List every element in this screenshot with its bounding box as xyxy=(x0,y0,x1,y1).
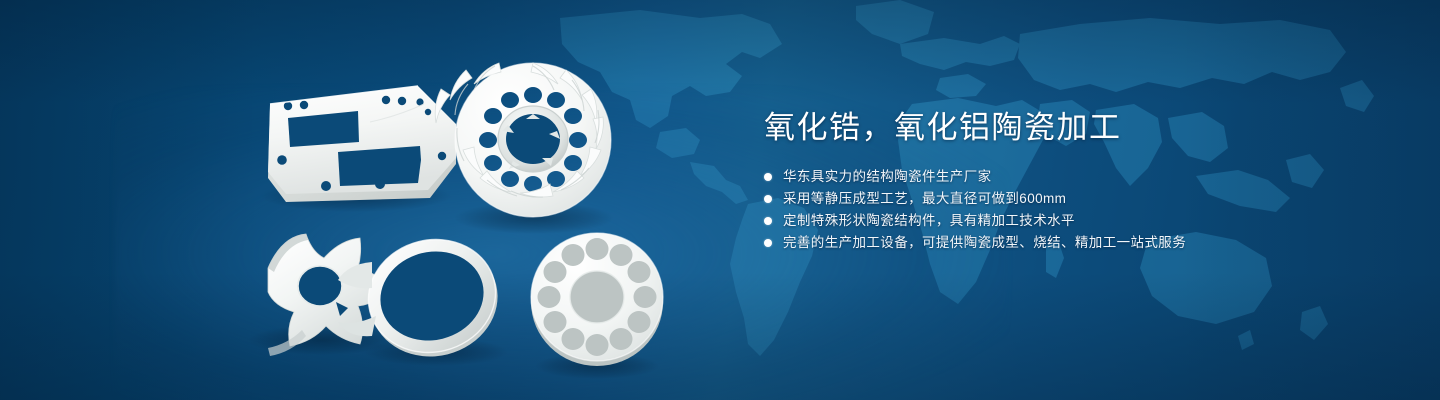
bullet-dot-icon xyxy=(764,217,772,225)
feature-text: 采用等静压成型工艺，最大直径可做到600mm xyxy=(783,188,1066,210)
feature-text: 华东具实力的结构陶瓷件生产厂家 xyxy=(783,166,992,188)
ceramic-impeller xyxy=(435,50,630,235)
ceramic-plate xyxy=(268,86,456,202)
list-item: 定制特殊形状陶瓷结构件，具有精加工技术水平 xyxy=(764,210,1364,232)
list-item: 完善的生产加工设备，可提供陶瓷成型、烧结、精加工一站式服务 xyxy=(764,232,1364,254)
bullet-dot-icon xyxy=(764,173,772,181)
impeller-hub xyxy=(498,106,568,172)
page-title: 氧化锆，氧化铝陶瓷加工 xyxy=(764,108,1364,148)
hero-banner: 氧化锆，氧化铝陶瓷加工 华东具实力的结构陶瓷件生产厂家 采用等静压成型工艺，最大… xyxy=(0,0,1440,400)
feature-list: 华东具实力的结构陶瓷件生产厂家 采用等静压成型工艺，最大直径可做到600mm 定… xyxy=(764,166,1364,254)
product-image-group xyxy=(0,0,720,400)
feature-text: 定制特殊形状陶瓷结构件，具有精加工技术水平 xyxy=(783,210,1075,232)
bullet-dot-icon xyxy=(764,239,772,247)
list-item: 华东具实力的结构陶瓷件生产厂家 xyxy=(764,166,1364,188)
ceramic-perforated-disc xyxy=(525,225,675,375)
list-item: 采用等静压成型工艺，最大直径可做到600mm xyxy=(764,188,1364,210)
bullet-dot-icon xyxy=(764,195,772,203)
banner-copy: 氧化锆，氧化铝陶瓷加工 华东具实力的结构陶瓷件生产厂家 采用等静压成型工艺，最大… xyxy=(764,108,1364,254)
feature-text: 完善的生产加工设备，可提供陶瓷成型、烧结、精加工一站式服务 xyxy=(783,232,1186,254)
